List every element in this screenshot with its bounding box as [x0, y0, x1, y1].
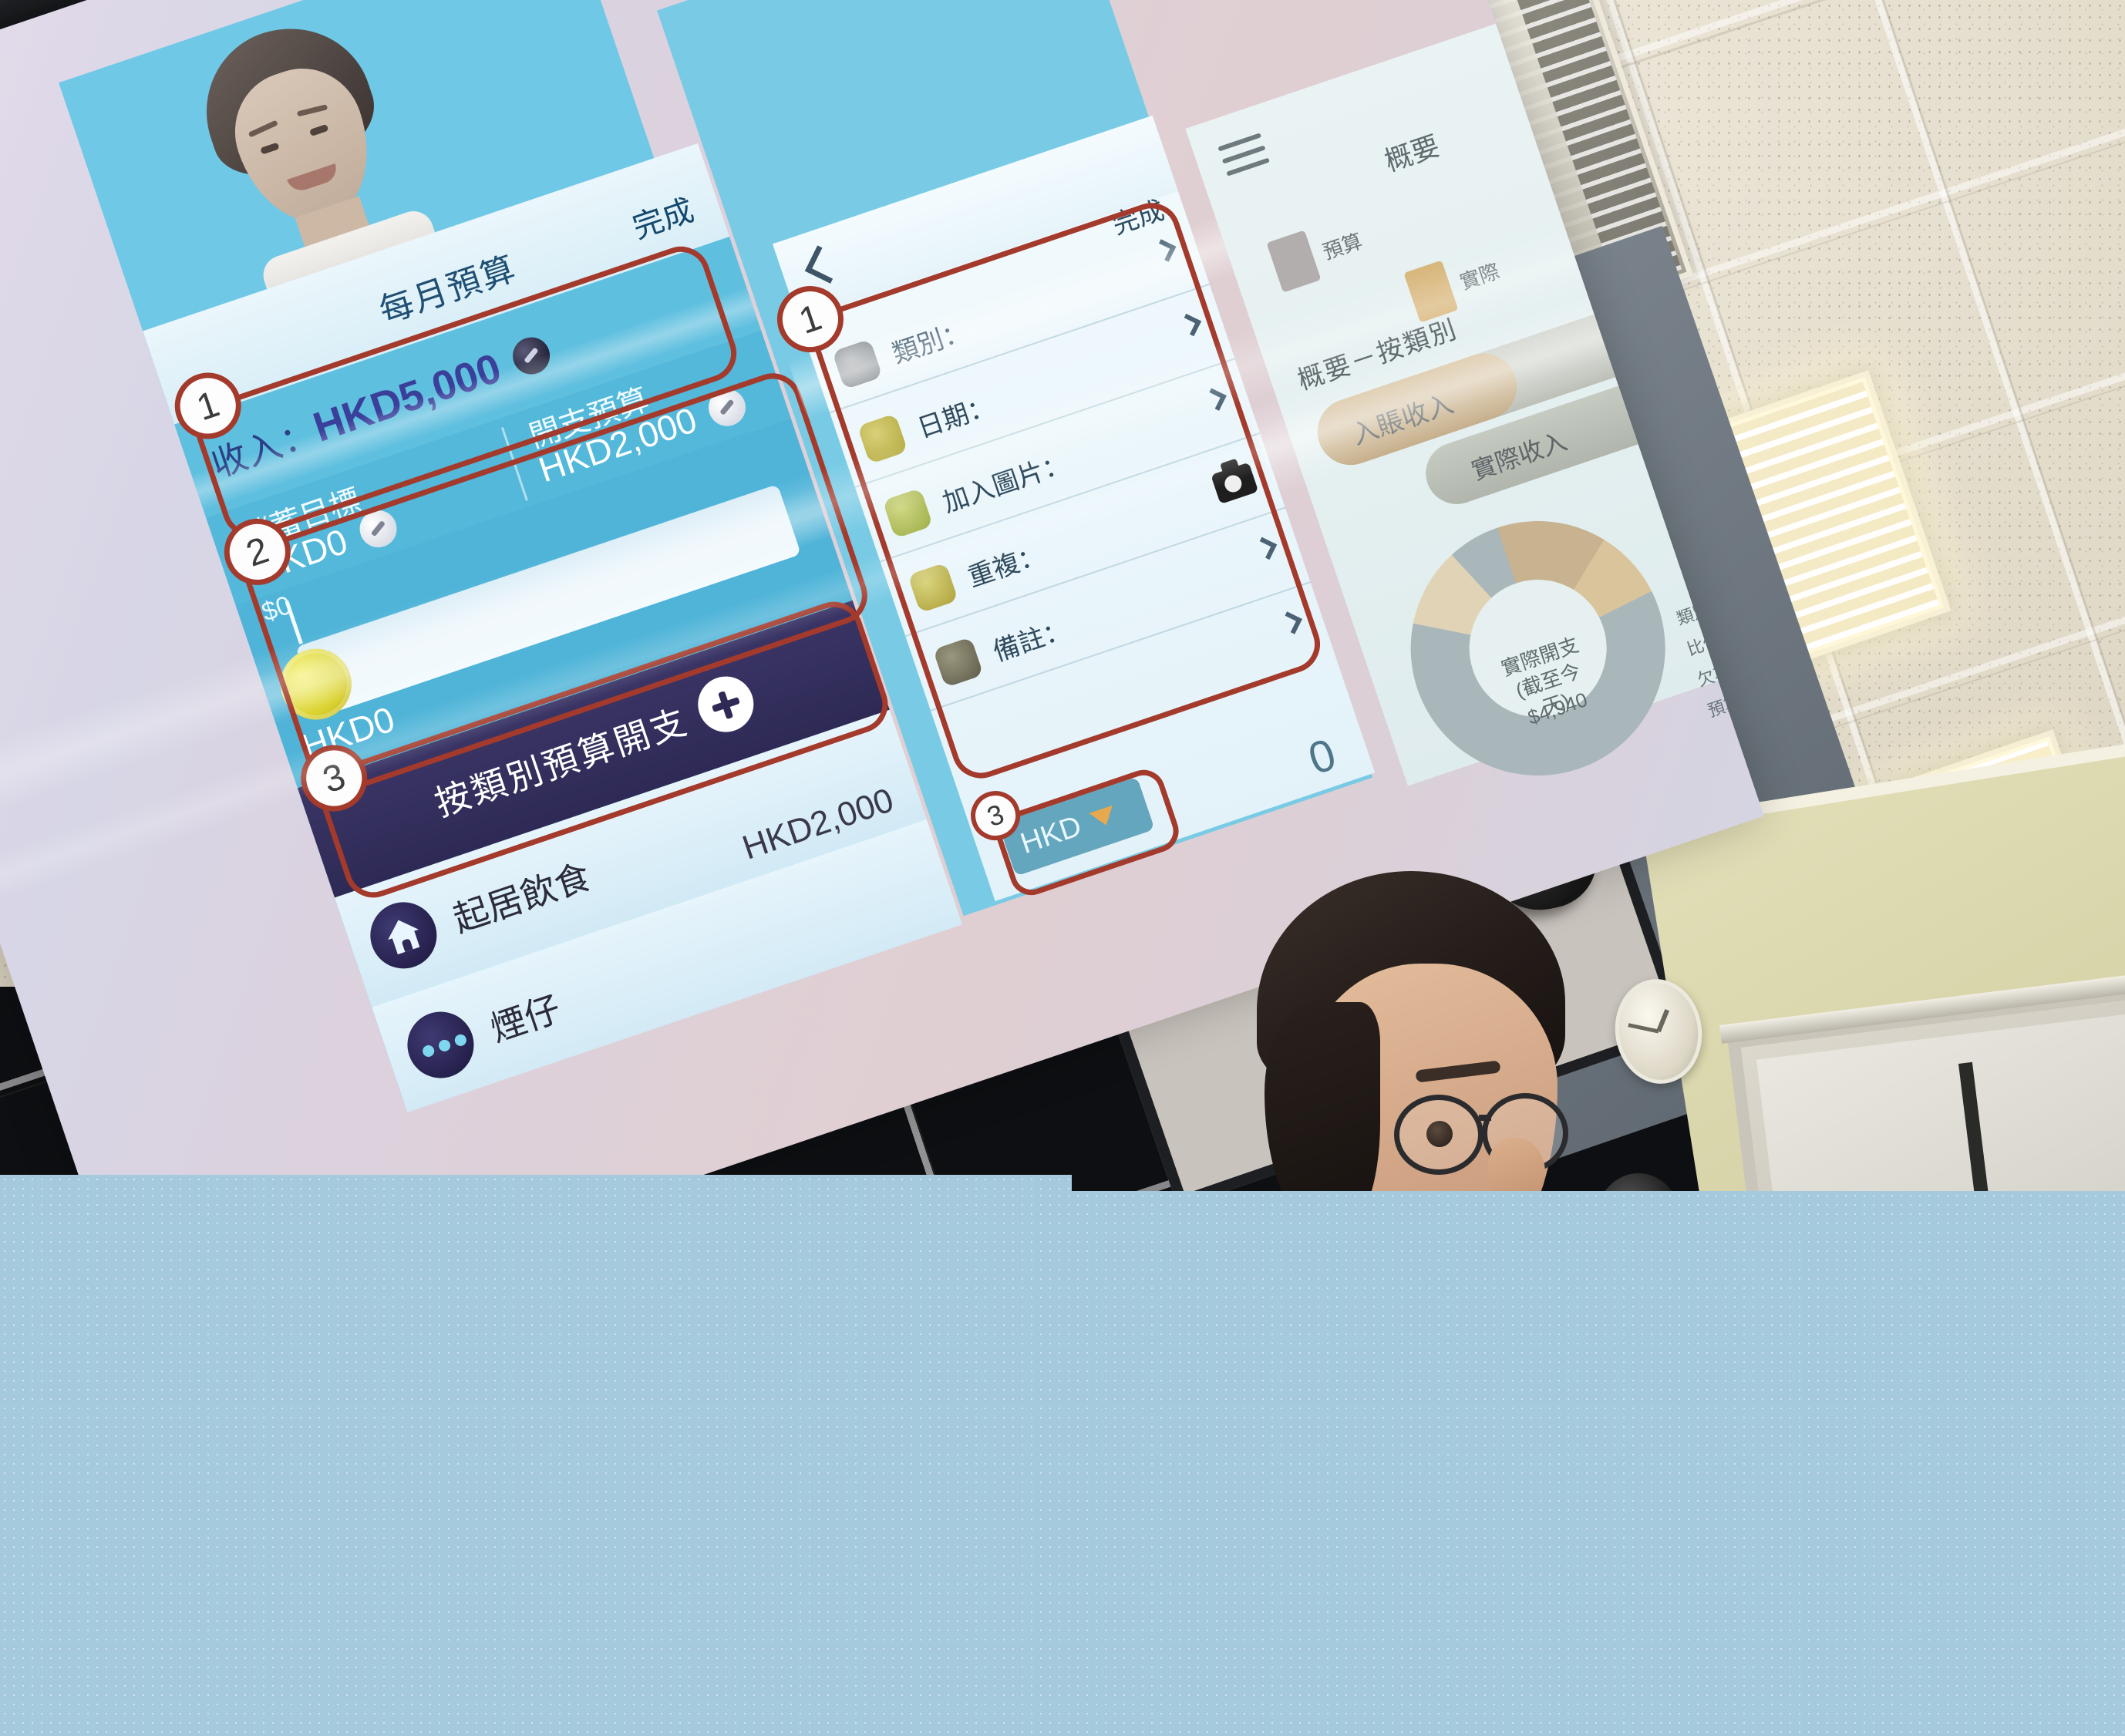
bar-label: 實際收入 — [1467, 422, 1571, 487]
chevron-right-icon — [1179, 314, 1201, 336]
plus-icon[interactable] — [690, 669, 760, 739]
category-name: 起居飲食 — [446, 849, 596, 943]
expense-donut-chart: 實際開支 (截至今天) $4,940 — [1376, 487, 1699, 809]
chevron-right-icon — [1254, 537, 1277, 560]
screenshot-root: 每月預算 完成 收入： HKD5,000 儲蓄目標 HKD0 — [0, 0, 2125, 1736]
currency-label: HKD — [1016, 809, 1086, 860]
legend-swatch — [1266, 230, 1321, 293]
note-icon — [933, 637, 984, 688]
amount-value: 0 — [1302, 728, 1342, 786]
summary-title: 概要 — [1379, 123, 1444, 179]
bottom-overlay-panel — [0, 1191, 2125, 1736]
caret-down-icon — [1089, 806, 1118, 829]
dots-icon — [399, 1003, 483, 1087]
done-button[interactable]: 完成 — [626, 185, 699, 247]
field-label: 備註： — [987, 607, 1073, 668]
pencil-icon[interactable] — [355, 506, 402, 553]
pencil-icon[interactable] — [704, 384, 751, 431]
presenter-eye — [1426, 1121, 1453, 1147]
legend-item-budget: 預算 — [1266, 214, 1369, 292]
column-divider — [501, 427, 528, 501]
house-icon — [362, 893, 446, 977]
chevron-right-icon — [1279, 611, 1302, 634]
currency-chip[interactable]: HKD — [999, 777, 1155, 876]
legend-label: 預算 — [1318, 225, 1366, 265]
hamburger-icon[interactable] — [1217, 133, 1271, 179]
category-name: 煙仔 — [483, 981, 566, 1052]
bottom-overlay-notch — [0, 1175, 1072, 1192]
slider-tick — [285, 601, 303, 644]
eyeglasses-bridge — [1479, 1115, 1491, 1121]
